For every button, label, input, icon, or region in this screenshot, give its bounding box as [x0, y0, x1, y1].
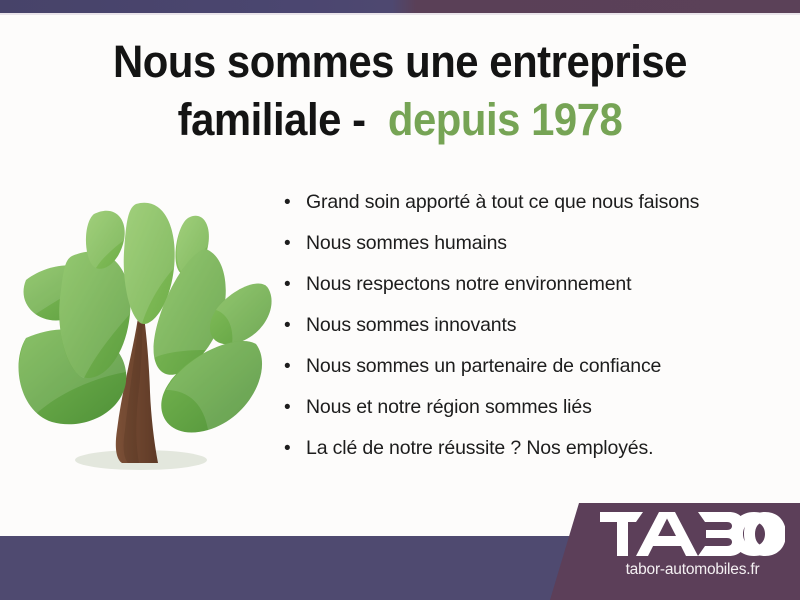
bullet-marker-icon: • — [284, 439, 306, 458]
list-item-label: Nous et notre région sommes liés — [306, 396, 592, 419]
list-item: • Nous respectons notre environnement — [284, 273, 784, 314]
list-item: • Nous et notre région sommes liés — [284, 396, 784, 437]
tree-icon — [18, 192, 280, 487]
slide-canvas: Nous sommes une entreprise familiale - d… — [0, 0, 800, 600]
bullet-marker-icon: • — [284, 398, 306, 417]
list-item-label: Nous sommes innovants — [306, 314, 516, 337]
list-item-label: La clé de notre réussite ? Nos employés. — [306, 437, 653, 460]
headline-line-1: Nous sommes une entreprise — [28, 33, 772, 91]
top-accent-hairline — [0, 13, 800, 15]
bullet-marker-icon: • — [284, 316, 306, 335]
tabor-wordmark-icon — [600, 512, 785, 556]
headline-line-2-green: depuis 1978 — [388, 94, 622, 145]
list-item: • La clé de notre réussite ? Nos employé… — [284, 437, 784, 478]
website-url[interactable]: tabor-automobiles.fr — [600, 561, 785, 579]
list-item: • Nous sommes innovants — [284, 314, 784, 355]
list-item-label: Nous respectons notre environnement — [306, 273, 631, 296]
bullet-marker-icon: • — [284, 234, 306, 253]
headline-line-2-black: familiale - — [178, 94, 366, 145]
list-item-label: Nous sommes un partenaire de confiance — [306, 355, 661, 378]
tabor-logo[interactable] — [600, 512, 785, 556]
bullet-marker-icon: • — [284, 357, 306, 376]
tree-illustration — [18, 192, 280, 487]
list-item: • Nous sommes un partenaire de confiance — [284, 355, 784, 396]
list-item-label: Nous sommes humains — [306, 232, 507, 255]
list-item: • Nous sommes humains — [284, 232, 784, 273]
bullet-marker-icon: • — [284, 275, 306, 294]
top-accent-bar — [0, 0, 800, 13]
list-item-label: Grand soin apporté à tout ce que nous fa… — [306, 191, 699, 214]
page-title: Nous sommes une entreprise familiale - d… — [28, 33, 772, 149]
bullet-marker-icon: • — [284, 193, 306, 212]
list-item: • Grand soin apporté à tout ce que nous … — [284, 191, 784, 232]
headline-line-2: familiale - depuis 1978 — [28, 91, 772, 149]
benefits-list: • Grand soin apporté à tout ce que nous … — [284, 191, 784, 478]
